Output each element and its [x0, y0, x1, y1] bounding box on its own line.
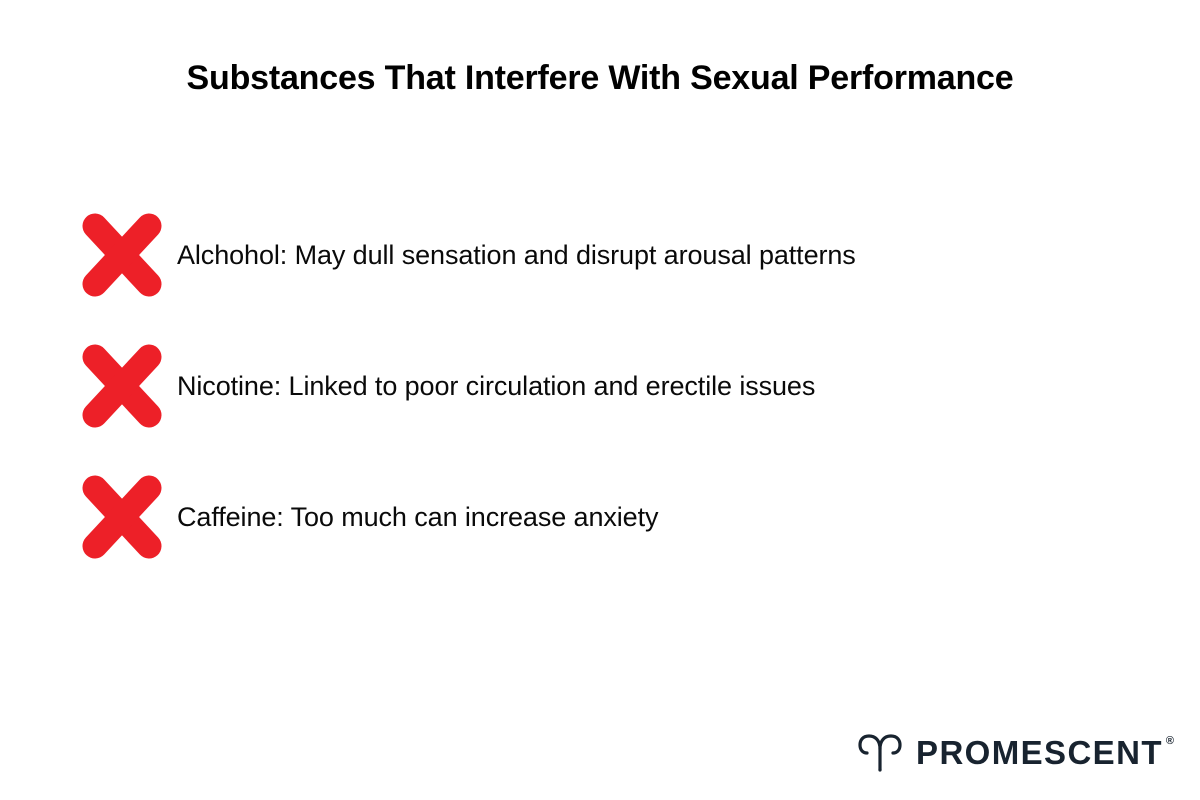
brand-logo: PROMESCENT ®	[858, 730, 1174, 776]
list-item-label: Nicotine: Linked to poor circulation and…	[177, 369, 815, 403]
list-item-label: Caffeine: Too much can increase anxiety	[177, 500, 658, 534]
infographic-canvas: Substances That Interfere With Sexual Pe…	[0, 0, 1200, 800]
red-x-icon	[80, 211, 164, 299]
list-item: Nicotine: Linked to poor circulation and…	[0, 337, 1200, 435]
red-x-icon	[80, 342, 164, 430]
list-item: Alchohol: May dull sensation and disrupt…	[0, 206, 1200, 304]
registered-trademark-symbol: ®	[1166, 736, 1174, 747]
list-item-label: Alchohol: May dull sensation and disrupt…	[177, 238, 856, 272]
red-x-icon	[80, 473, 164, 561]
substances-list: Alchohol: May dull sensation and disrupt…	[0, 206, 1200, 599]
aries-ram-horn-icon	[858, 734, 902, 772]
brand-wordmark: PROMESCENT	[916, 734, 1163, 772]
page-title: Substances That Interfere With Sexual Pe…	[0, 56, 1200, 100]
list-item: Caffeine: Too much can increase anxiety	[0, 468, 1200, 566]
